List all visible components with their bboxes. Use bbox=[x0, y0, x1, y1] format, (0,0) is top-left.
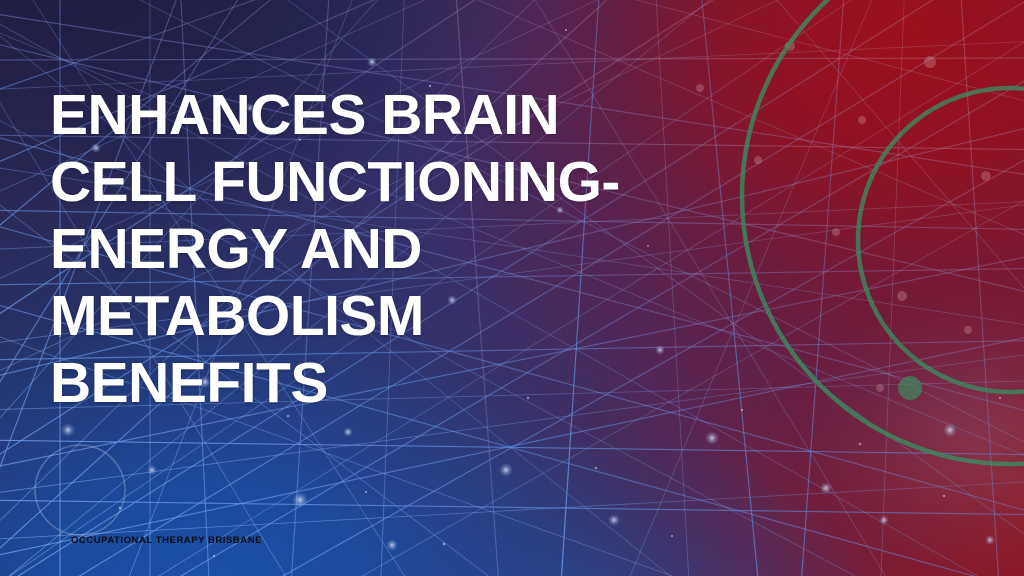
presentation-slide: ENHANCES BRAIN CELL FUNCTIONING- ENERGY … bbox=[0, 0, 1024, 576]
inner-green-ring bbox=[858, 88, 1024, 392]
footer-brand-label: OCCUPATIONAL THERAPY BRISBANE bbox=[71, 535, 262, 546]
green-node-dot bbox=[898, 376, 922, 400]
faint-white-circle bbox=[35, 445, 125, 535]
outer-green-ring bbox=[742, 0, 1024, 464]
page-title: ENHANCES BRAIN CELL FUNCTIONING- ENERGY … bbox=[50, 82, 770, 417]
